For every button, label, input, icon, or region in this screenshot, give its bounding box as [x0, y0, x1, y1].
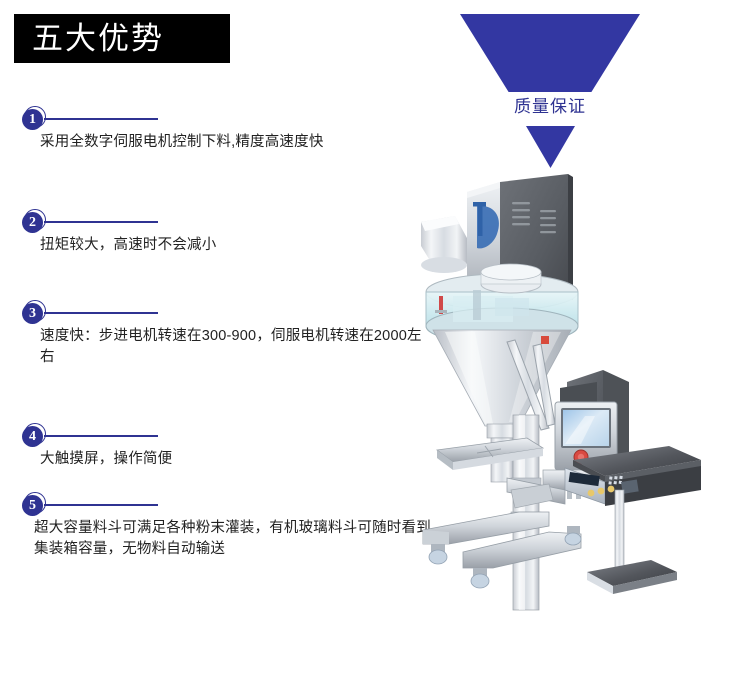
badge-number-3: 3: [22, 303, 43, 324]
feature-item-1: 1 采用全数字伺服电机控制下料,精度高速度快: [0, 106, 450, 134]
machine-base-frame: [423, 478, 581, 588]
feature-header-5: 5: [0, 492, 450, 520]
machine-illustration-icon: [415, 160, 750, 620]
badge-number-5: 5: [22, 495, 43, 516]
badge-number-2: 2: [22, 212, 43, 233]
badge-number-1: 1: [22, 109, 43, 130]
feature-text-4: 大触摸屏，操作简便: [40, 449, 440, 470]
feature-text-1: 采用全数字伺服电机控制下料,精度高速度快: [40, 132, 440, 153]
machine-photo: [415, 160, 750, 620]
feature-item-5: 5 超大容量料斗可满足各种粉末灌装，有机玻璃料斗可随时看到集装箱容量，无物料自动…: [0, 492, 450, 520]
quality-assurance-graphic: 质量保证: [440, 0, 750, 180]
feature-text-5: 超大容量料斗可满足各种粉末灌装，有机玻璃料斗可随时看到集装箱容量，无物料自动输送: [34, 518, 434, 560]
feature-header-3: 3: [0, 300, 450, 328]
feature-header-2: 2: [0, 209, 450, 237]
page-root: 五大优势 1 采用全数字伺服电机控制下料,精度高速度快 2: [0, 0, 750, 677]
weighing-scale: [565, 446, 701, 594]
feature-header-1: 1: [0, 106, 450, 134]
feature-text-3: 速度快：步进电机转速在300-900，伺服电机转速在2000左右: [40, 326, 428, 368]
feature-item-2: 2 扭矩较大，高速时不会减小: [0, 209, 450, 237]
feature-rule-2: [44, 221, 158, 223]
feature-text-2: 扭矩较大，高速时不会减小: [40, 235, 440, 256]
feature-list: 1 采用全数字伺服电机控制下料,精度高速度快 2 扭矩较大，高速时不会减小: [0, 0, 460, 677]
feature-rule-4: [44, 435, 158, 437]
quality-label: 质量保证: [460, 93, 640, 121]
feature-item-3: 3 速度快：步进电机转速在300-900，伺服电机转速在2000左右: [0, 300, 450, 328]
feature-rule-5: [44, 504, 158, 506]
feature-rule-1: [44, 118, 158, 120]
machine-inlet-chute: [421, 216, 467, 273]
funnel-top-shape-icon: [460, 14, 640, 92]
feature-rule-3: [44, 312, 158, 314]
feature-header-4: 4: [0, 423, 450, 451]
feature-item-4: 4 大触摸屏，操作简便: [0, 423, 450, 451]
badge-number-4: 4: [22, 426, 43, 447]
